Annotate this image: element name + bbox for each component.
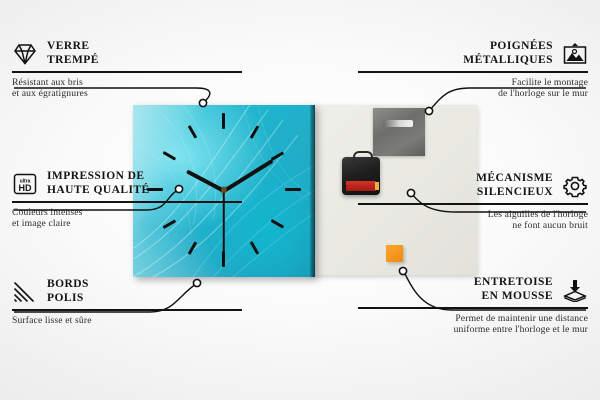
callout-title: MÉCANISME SILENCIEUX [476,172,553,199]
clock-tick [271,151,284,160]
callout-subtitle: Résistant aux bris et aux égratignures [12,77,242,100]
clock-tick [250,125,259,138]
infographic-canvas: VERRE TREMPÉ Résistant aux bris et aux é… [0,0,600,400]
callout-bords-polis[interactable]: BORDS POLIS Surface lisse et sûre [12,278,242,326]
callout-subtitle: Facilite le montage de l'horloge sur le … [358,77,588,100]
clock-tick [250,241,259,254]
svg-text:HD: HD [19,183,32,193]
callout-mecanisme-silencieux[interactable]: MÉCANISME SILENCIEUX Les aiguilles de l'… [358,172,588,232]
clock-tick [188,241,197,254]
callout-header: MÉCANISME SILENCIEUX [358,172,588,199]
clock-tick [188,125,197,138]
callout-subtitle: Permet de maintenir une distance uniform… [358,313,588,336]
clock-tick [271,219,284,228]
ultra-hd-badge-icon: ultra HD [12,172,38,196]
callout-header: VERRE TREMPÉ [12,40,242,67]
metal-hanger-part [373,108,425,156]
foam-spacer-part [386,245,403,262]
callout-title: BORDS POLIS [47,278,89,305]
callout-title: POIGNÉES MÉTALLIQUES [463,40,553,67]
clock-tick [222,113,225,129]
callout-rule [358,307,588,309]
picture-frame-icon [562,42,588,66]
gear-icon [562,174,588,198]
callout-header: BORDS POLIS [12,278,242,305]
callout-title: ENTRETOISE EN MOUSSE [474,276,553,303]
callout-title: IMPRESSION DE HAUTE QUALITÉ [47,170,150,197]
clock-tick [222,251,225,267]
callout-header: ENTRETOISE EN MOUSSE [358,276,588,303]
clock-tick [163,151,176,160]
clock-tick [285,188,301,191]
callout-header: ultra HD IMPRESSION DE HAUTE QUALITÉ [12,170,242,197]
diamond-icon [12,42,38,66]
callout-subtitle: Les aiguilles de l'horloge ne font aucun… [358,209,588,232]
callout-entretoise-en-mousse[interactable]: ENTRETOISE EN MOUSSE Permet de maintenir… [358,276,588,336]
press-down-layers-icon [562,278,588,302]
callout-poignees-metalliques[interactable]: POIGNÉES MÉTALLIQUES Facilite le montage… [358,40,588,100]
callout-rule [12,309,242,311]
callout-rule [358,71,588,73]
callout-rule [12,201,242,203]
callout-rule [12,71,242,73]
polished-edge-icon [12,280,38,304]
callout-subtitle: Surface lisse et sûre [12,315,242,327]
callout-header: POIGNÉES MÉTALLIQUES [358,40,588,67]
callout-impression-haute-qualite[interactable]: ultra HD IMPRESSION DE HAUTE QUALITÉ Cou… [12,170,242,230]
callout-subtitle: Couleurs intenses et image claire [12,207,242,230]
callout-verre-trempe[interactable]: VERRE TREMPÉ Résistant aux bris et aux é… [12,40,242,100]
hanger-slot [383,120,413,127]
callout-title: VERRE TREMPÉ [47,40,99,67]
callout-rule [358,203,588,205]
mechanism-hook [353,151,373,162]
